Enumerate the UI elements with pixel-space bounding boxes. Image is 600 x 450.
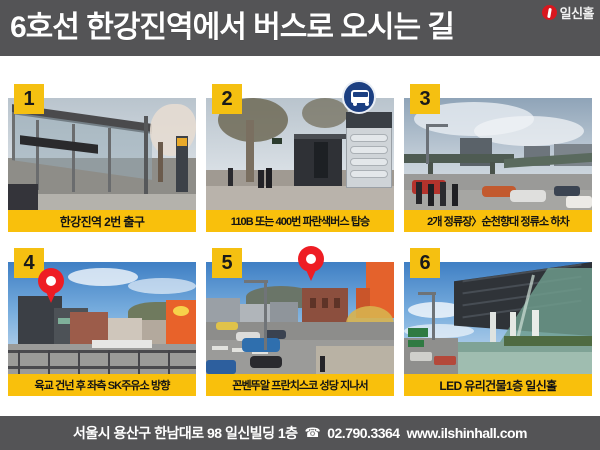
step-caption: 육교 건넌 후 좌측 SK주유소 방향 bbox=[8, 374, 196, 396]
header-bar: 6호선 한강진역에서 버스로 오시는 길 일신홀 bbox=[0, 0, 600, 56]
step-card-3[interactable]: 3 2개 정류장〉순천향대 정류소 하차 bbox=[404, 84, 592, 232]
footer-phone: 02.790.3364 bbox=[327, 425, 399, 441]
step-caption: 110B 또는 400번 파란색버스 탑승 bbox=[206, 210, 394, 232]
step-number-badge: 3 bbox=[410, 84, 440, 114]
step-caption: 꼰벤뚜알 프란치스코 성당 지나서 bbox=[206, 374, 394, 396]
footer-bar: 서울시 용산구 한남대로 98 일신빌딩 1층 ☎ 02.790.3364 ww… bbox=[0, 416, 600, 450]
phone-icon: ☎ bbox=[305, 425, 321, 441]
map-pin-icon bbox=[298, 246, 324, 282]
step-caption: 2개 정류장〉순천향대 정류소 하차 bbox=[404, 210, 592, 232]
brand-name-label: 일신홀 bbox=[560, 3, 594, 22]
footer-address: 서울시 용산구 한남대로 98 일신빌딩 1층 bbox=[73, 423, 298, 443]
bus-icon bbox=[342, 80, 376, 114]
glass-building-facade-photo bbox=[404, 262, 592, 374]
page-title: 6호선 한강진역에서 버스로 오시는 길 bbox=[10, 6, 454, 50]
route-guide-poster: 6호선 한강진역에서 버스로 오시는 길 일신홀 bbox=[0, 0, 600, 450]
map-pin-icon bbox=[38, 268, 64, 304]
step-number-badge: 1 bbox=[14, 84, 44, 114]
step-caption: LED 유리건물1층 일신홀 bbox=[404, 374, 592, 396]
subway-station-exit-photo bbox=[8, 98, 196, 210]
step-card-5[interactable]: 5 꼰벤뚜알 프란치스코 성당 지나서 bbox=[206, 248, 394, 396]
overpass-intersection-photo bbox=[404, 98, 592, 210]
brand-logo: 일신홀 bbox=[542, 3, 594, 22]
city-skyline-from-overpass-photo bbox=[8, 262, 196, 374]
step-grid: 1 한강진역 2번 출구 bbox=[8, 84, 592, 396]
step-card-2[interactable]: 2 110B 또는 400번 파란색버스 탑승 bbox=[206, 84, 394, 232]
step-card-4[interactable]: 4 육교 건넌 후 좌측 SK주유소 방향 bbox=[8, 248, 196, 396]
bus-stop-street-photo bbox=[206, 98, 394, 210]
step-number-badge: 2 bbox=[212, 84, 242, 114]
step-card-6[interactable]: 6 LED 유리건물1층 일신홀 bbox=[404, 248, 592, 396]
ilshin-circle-logo-icon bbox=[542, 5, 557, 20]
step-number-badge: 5 bbox=[212, 248, 242, 278]
step-caption: 한강진역 2번 출구 bbox=[8, 210, 196, 232]
footer-website[interactable]: www.ilshinhall.com bbox=[407, 425, 527, 441]
step-number-badge: 6 bbox=[410, 248, 440, 278]
step-card-1[interactable]: 1 한강진역 2번 출구 bbox=[8, 84, 196, 232]
